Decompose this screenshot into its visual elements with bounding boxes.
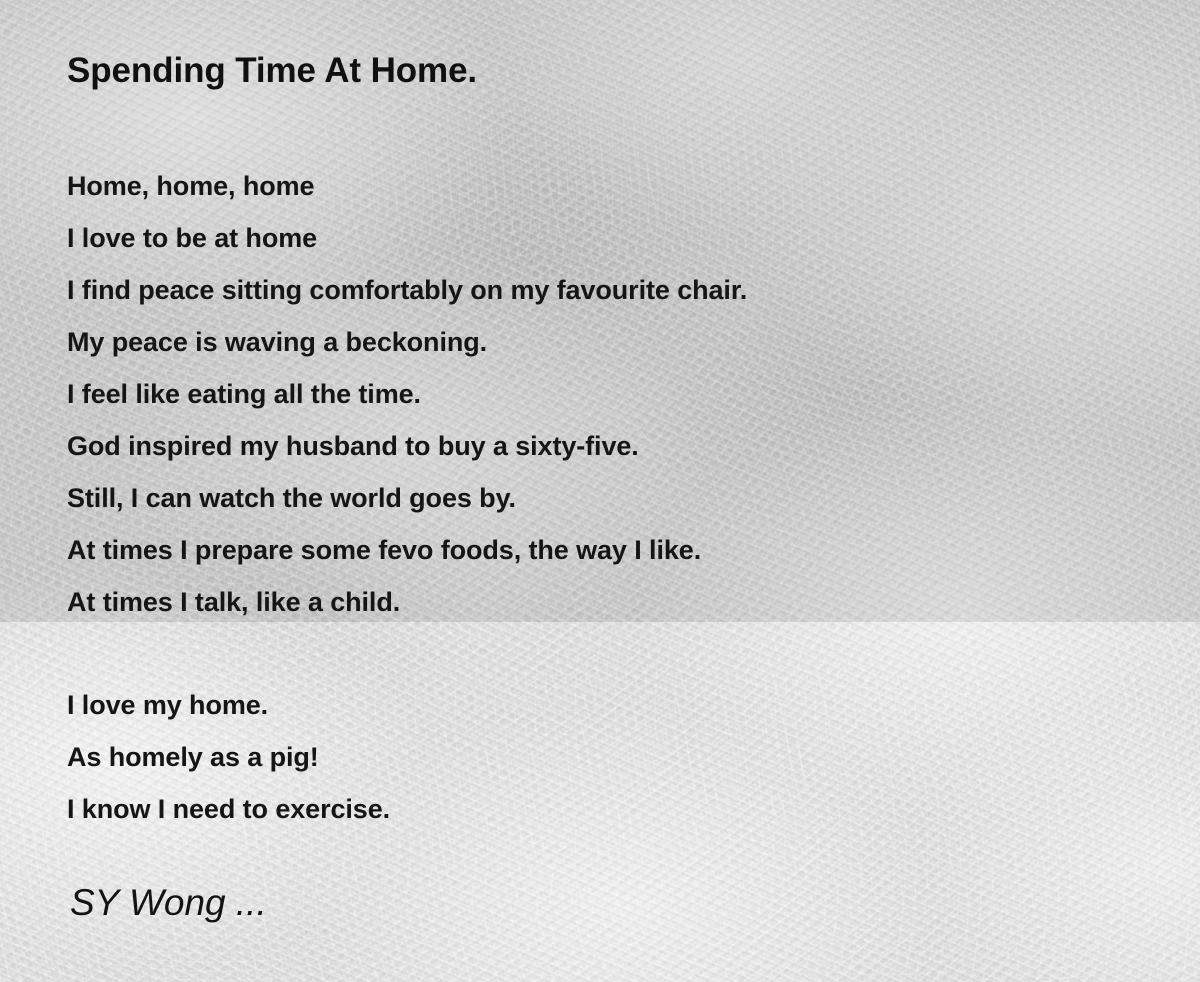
poem-line: I love to be at home <box>67 212 747 264</box>
poem-line: God inspired my husband to buy a sixty-f… <box>67 420 747 472</box>
poem-line: My peace is waving a beckoning. <box>67 316 747 368</box>
poem-image-canvas: Spending Time At Home. Home, home, home … <box>0 0 1200 982</box>
poem-line: At times I talk, like a child. <box>67 576 747 628</box>
page-title: Spending Time At Home. <box>67 51 477 91</box>
poem-line: I love my home. <box>67 679 390 731</box>
poem-line: As homely as a pig! <box>67 731 390 783</box>
author-signature: SY Wong ... <box>70 882 267 924</box>
poem-line: I find peace sitting comfortably on my f… <box>67 264 747 316</box>
poem-line: Still, I can watch the world goes by. <box>67 472 747 524</box>
stanza-first: Home, home, home I love to be at home I … <box>67 160 747 628</box>
poem-line: I know I need to exercise. <box>67 783 390 835</box>
poem-line: At times I prepare some fevo foods, the … <box>67 524 747 576</box>
poem-content: Spending Time At Home. Home, home, home … <box>0 0 1200 982</box>
stanza-second: I love my home. As homely as a pig! I kn… <box>67 679 390 835</box>
poem-line: Home, home, home <box>67 160 747 212</box>
poem-line: I feel like eating all the time. <box>67 368 747 420</box>
